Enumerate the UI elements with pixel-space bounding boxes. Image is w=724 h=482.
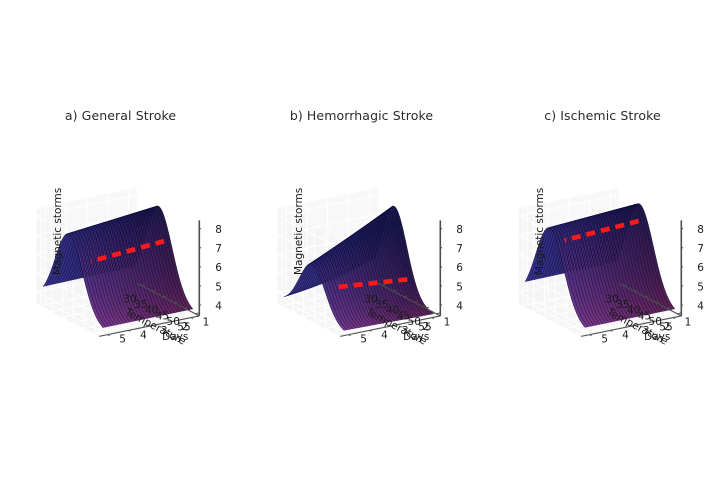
z-axis-label: Magnetic storms	[52, 188, 64, 275]
y-tick-label: 1	[203, 317, 210, 329]
z-tick-label: 8	[215, 224, 222, 236]
z-tick-label: 7	[215, 243, 222, 255]
panel-a: a) General Stroke 3035404550551234545678…	[0, 0, 241, 482]
panel-b: b) Hemorrhagic Stroke 303540455055123454…	[241, 0, 482, 482]
z-tick-label: 4	[215, 300, 222, 312]
y-tick-label: 5	[119, 334, 126, 346]
figure-canvas: a) General Stroke 3035404550551234545678…	[0, 0, 724, 482]
y-axis-label: Days	[162, 331, 188, 343]
axes3d-a: 3035404550551234545678TemperatureDaysMag…	[0, 0, 241, 482]
axes3d-b: 3035404550551234545678TemperatureDaysMag…	[241, 0, 482, 482]
z-tick-label: 6	[215, 262, 222, 274]
y-tick-label: 4	[140, 329, 147, 341]
x-tick-mark	[195, 313, 199, 314]
z-tick-label: 5	[215, 281, 222, 293]
